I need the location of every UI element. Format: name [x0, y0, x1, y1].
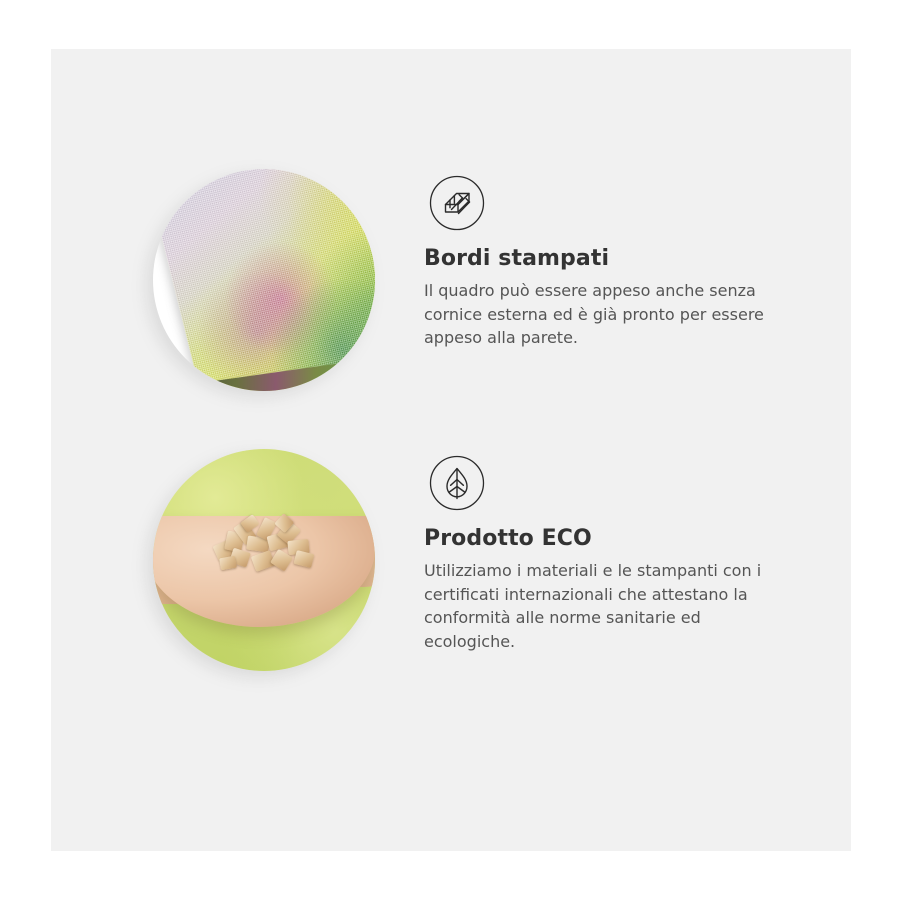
feature-image-eco-product — [153, 449, 375, 671]
feature-title: Prodotto ECO — [424, 525, 824, 553]
feature-title: Bordi stampati — [424, 245, 824, 273]
feature-text-printed-edges: Bordi stampati Il quadro può essere appe… — [424, 245, 824, 350]
product-feature-page: Bordi stampati Il quadro può essere appe… — [0, 0, 900, 900]
canvas-block — [153, 169, 375, 391]
canvas-corner-photo — [153, 169, 375, 391]
wood-chips-pile — [211, 516, 322, 578]
feature-image-printed-edges — [153, 169, 375, 391]
leaf-icon — [429, 455, 485, 511]
content-panel: Bordi stampati Il quadro può essere appe… — [51, 49, 851, 851]
wood-chips-photo — [153, 449, 375, 671]
feature-description: Utilizziamo i materiali e le stampanti c… — [424, 559, 792, 653]
feature-description: Il quadro può essere appeso anche senza … — [424, 279, 792, 350]
feature-text-eco-product: Prodotto ECO Utilizziamo i materiali e l… — [424, 525, 824, 653]
canvas-weave-texture — [153, 169, 375, 391]
wrapped-canvas-edges-icon — [429, 175, 485, 231]
